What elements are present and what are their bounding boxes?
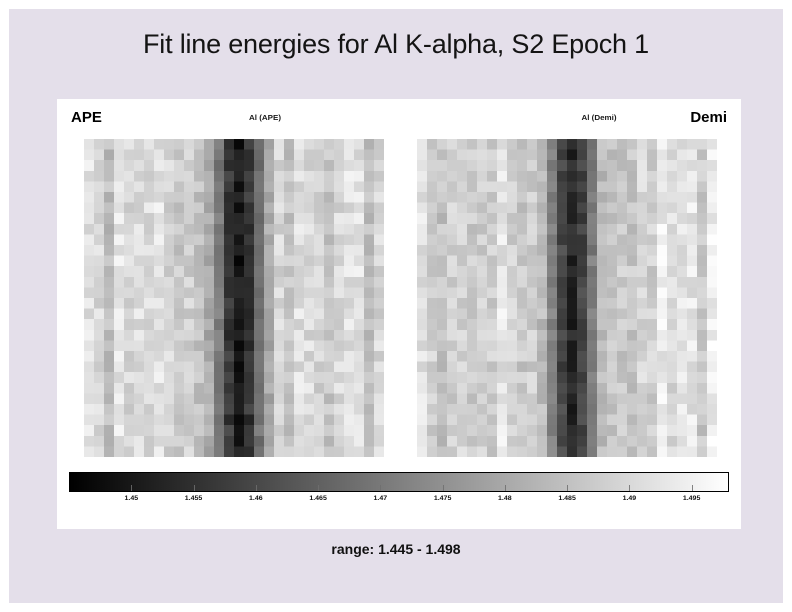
colorbar-tick-label: 1.48 [498,495,512,502]
heatmap-image-ape [84,139,384,457]
colorbar-tick-label: 1.47 [373,495,387,502]
colorbar-tick-label: 1.465 [309,495,327,502]
colorbar-tick [380,485,381,491]
slide-canvas: Fit line energies for Al K-alpha, S2 Epo… [9,9,783,603]
colorbar-tick [692,485,693,491]
colorbar: 1.451.4551.461.4651.471.4751.481.4851.49… [69,472,729,522]
heatmap-caption-demi: Al (Demi) [539,113,659,122]
colorbar-tick-label: 1.45 [124,495,138,502]
colorbar-tick [567,485,568,491]
figure-panel: APE Demi Al (APE) Al (Demi) 1.451.4551.4… [57,99,741,529]
colorbar-tick [131,485,132,491]
colorbar-tick-label: 1.46 [249,495,263,502]
panel-label-ape: APE [71,109,102,126]
colorbar-tick [318,485,319,491]
colorbar-tick-label: 1.495 [683,495,701,502]
colorbar-tick [443,485,444,491]
colorbar-tick-label: 1.475 [434,495,452,502]
heatmap-image-demi [417,139,717,457]
colorbar-tick [505,485,506,491]
heatmap-caption-ape: Al (APE) [205,113,325,122]
colorbar-tick [629,485,630,491]
colorbar-tick [256,485,257,491]
colorbar-tick-label: 1.485 [558,495,576,502]
colorbar-tick-label: 1.455 [185,495,203,502]
page-title: Fit line energies for Al K-alpha, S2 Epo… [49,29,743,61]
colorbar-tick-label: 1.49 [623,495,637,502]
colorbar-tick [194,485,195,491]
panel-label-demi: Demi [690,109,727,126]
range-annotation: range: 1.445 - 1.498 [9,541,783,557]
